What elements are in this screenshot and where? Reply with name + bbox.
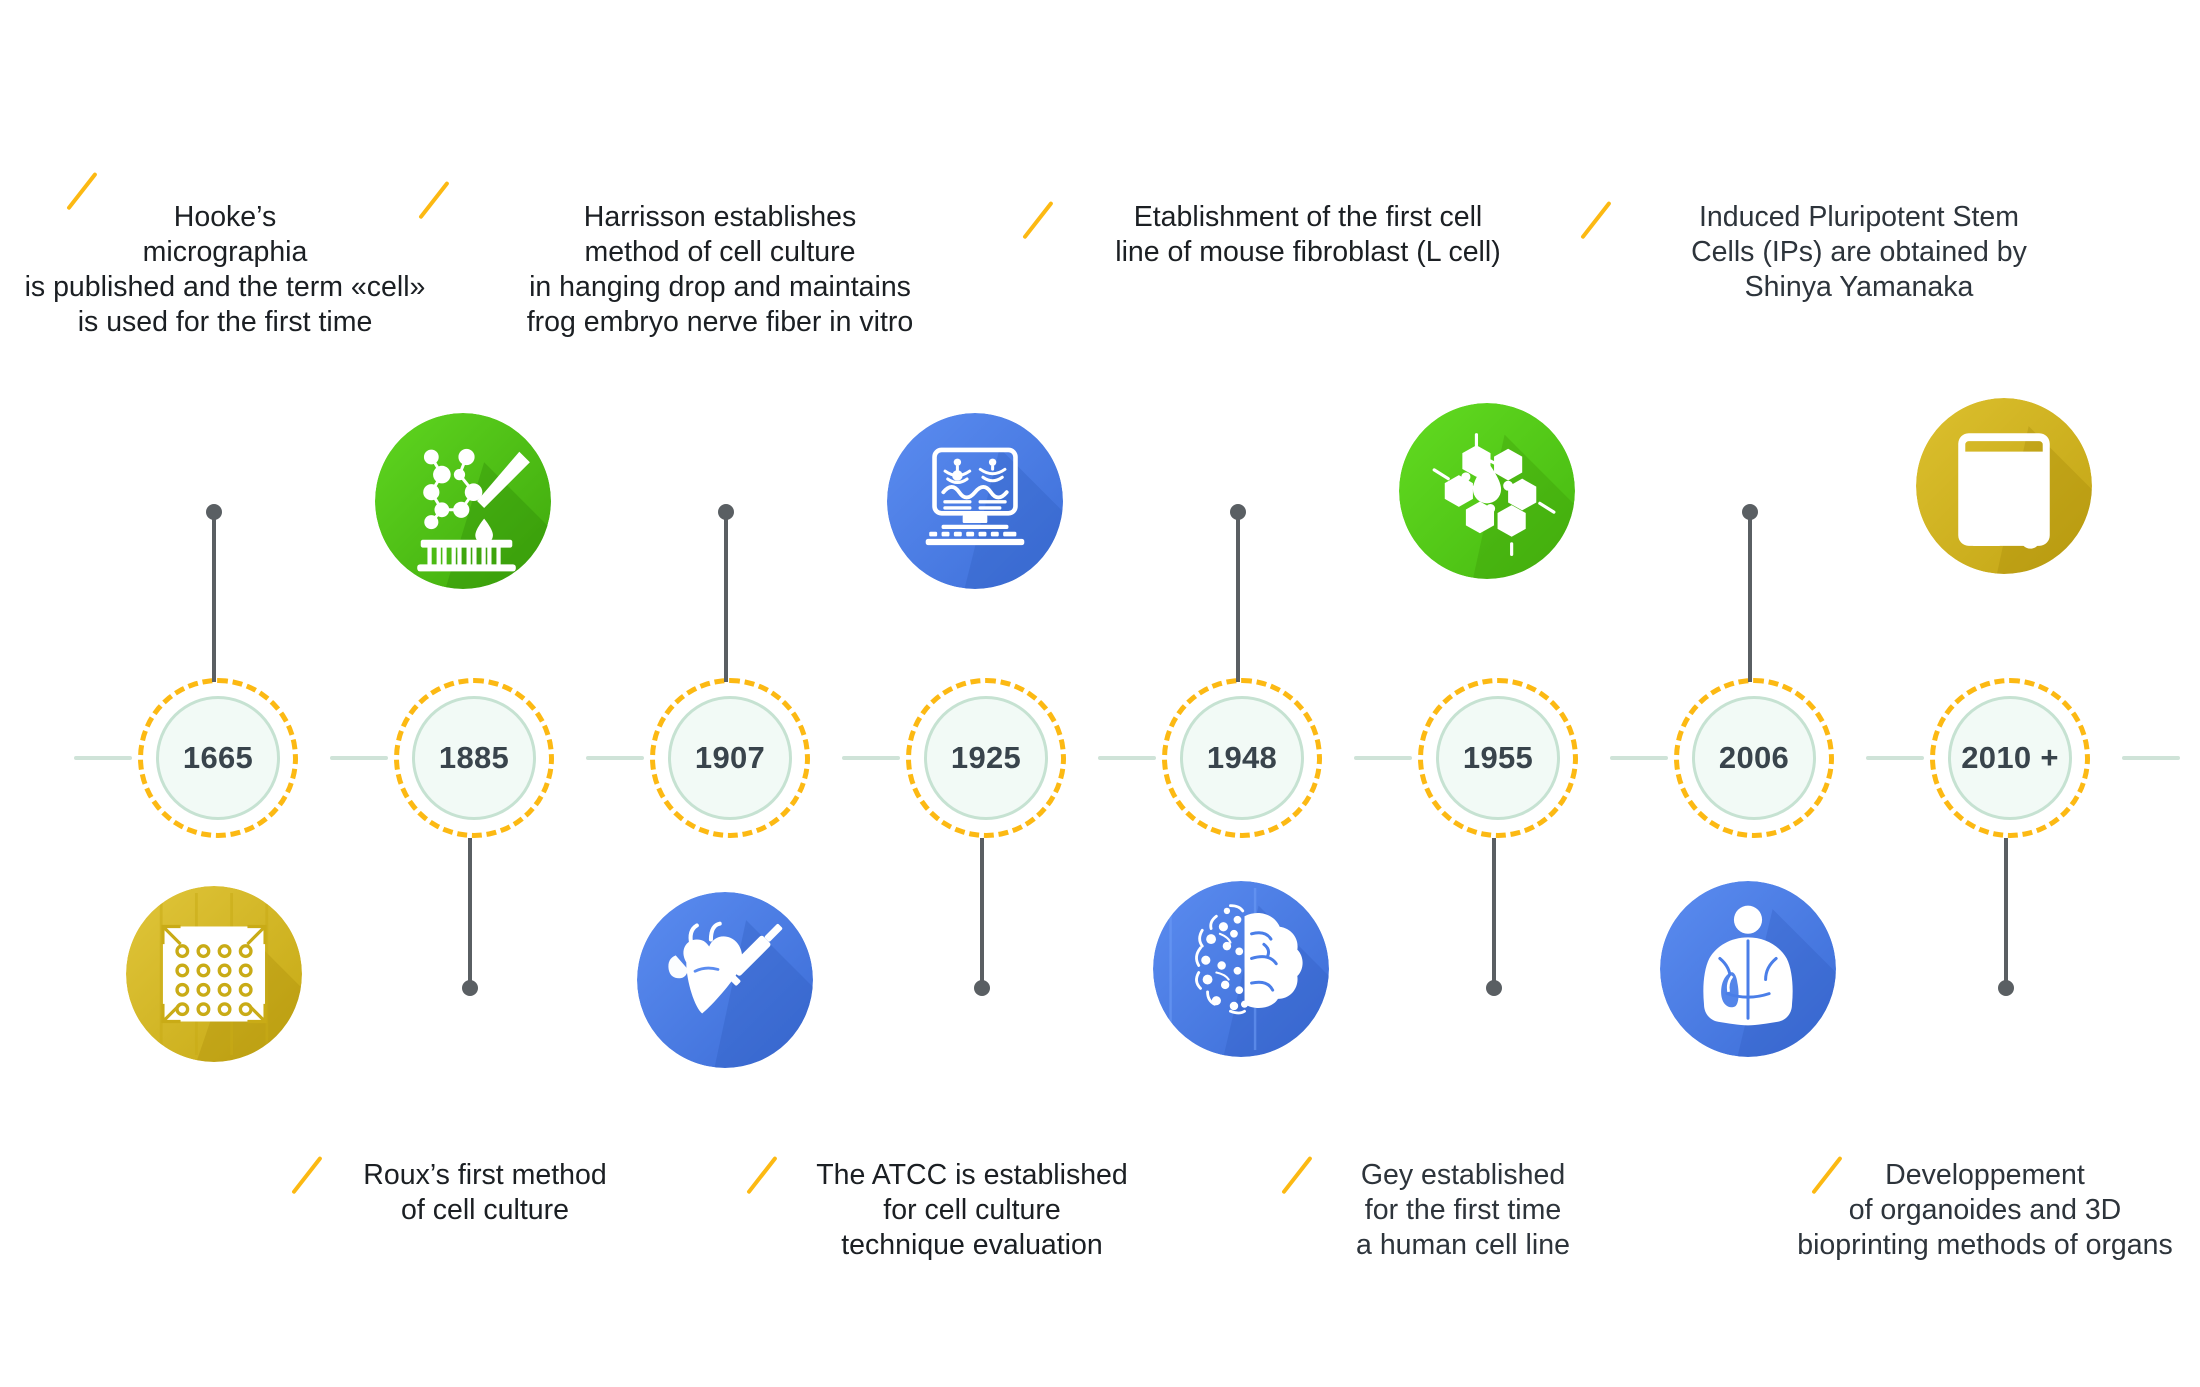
year-label: 1925 [951, 740, 1021, 776]
year-node-inner: 1885 [412, 696, 536, 820]
stem-1665 [212, 512, 216, 682]
milestone-icon-1948[interactable] [1153, 881, 1329, 1057]
year-node-2010-plus[interactable]: 2010 + [1930, 678, 2090, 838]
timeline-connector-end [2122, 756, 2180, 760]
milestone-icon-2006[interactable] [1660, 881, 1836, 1057]
year-node-inner: 1925 [924, 696, 1048, 820]
stem-dot-2006 [1742, 504, 1758, 520]
caption-slash-icon [746, 1156, 777, 1194]
year-node-1925[interactable]: 1925 [906, 678, 1066, 838]
year-node-inner: 1665 [156, 696, 280, 820]
heart-syringe-icon [637, 892, 813, 1068]
stem-dot-1955 [1486, 980, 1502, 996]
stem-1955 [1492, 838, 1496, 988]
timeline-connector [842, 756, 900, 760]
year-node-1665[interactable]: 1665 [138, 678, 298, 838]
caption-slash-icon [291, 1156, 322, 1194]
timeline-connector [1866, 756, 1924, 760]
stem-1948 [1236, 512, 1240, 682]
milestone-icon-1665[interactable] [126, 886, 302, 1062]
monitor-analysis-icon [887, 413, 1063, 589]
year-node-1955[interactable]: 1955 [1418, 678, 1578, 838]
stem-2010-plus [2004, 838, 2008, 988]
caption-1925: The ATCC is established for cell culture… [782, 1158, 1162, 1263]
milestone-icon-1907[interactable] [637, 892, 813, 1068]
milestone-icon-1925[interactable] [887, 413, 1063, 589]
caption-1665: Hooke’s micrographia is published and th… [0, 200, 470, 340]
caption-slash-icon [1281, 1156, 1312, 1194]
year-label: 2010 + [1961, 740, 2058, 776]
milestone-icon-2010-plus[interactable] [1916, 398, 2092, 574]
caption-1885: Roux’s first method of cell culture [330, 1158, 640, 1228]
caption-slash-icon [1022, 201, 1053, 239]
caption-2010-plus: Developpement of organoides and 3D biopr… [1760, 1158, 2200, 1263]
timeline-connector [1610, 756, 1668, 760]
stem-dot-1907 [718, 504, 734, 520]
stem-dot-2010-plus [1998, 980, 2014, 996]
caption-1955: Gey established for the first time a hum… [1318, 1158, 1608, 1263]
stem-2006 [1748, 512, 1752, 682]
brain-neural-icon [1153, 881, 1329, 1057]
stem-1885 [468, 838, 472, 988]
year-label: 1955 [1463, 740, 1533, 776]
year-node-inner: 2006 [1692, 696, 1816, 820]
bioprinter-heart-icon [1916, 398, 2092, 574]
milestone-icon-1885[interactable] [375, 413, 551, 589]
honeycomb-molecule-icon [1399, 403, 1575, 579]
year-node-1948[interactable]: 1948 [1162, 678, 1322, 838]
caption-1907: Harrisson establishes method of cell cul… [470, 200, 970, 340]
caption-2006: Induced Pluripotent Stem Cells (IPs) are… [1614, 200, 2104, 305]
year-label: 1907 [695, 740, 765, 776]
stem-dot-1948 [1230, 504, 1246, 520]
stem-dot-1885 [462, 980, 478, 996]
timeline-connector [586, 756, 644, 760]
milestone-icon-1955[interactable] [1399, 403, 1575, 579]
timeline-connector-start [74, 756, 132, 760]
torso-organ-icon [1660, 881, 1836, 1057]
molecule-pipette-testtube-icon [375, 413, 551, 589]
timeline-connector [1354, 756, 1412, 760]
timeline-connector [1098, 756, 1156, 760]
stem-dot-1665 [206, 504, 222, 520]
year-label: 1885 [439, 740, 509, 776]
caption-1948: Etablishment of the first cell line of m… [1058, 200, 1558, 270]
microplate-well-icon [126, 886, 302, 1062]
stem-dot-1925 [974, 980, 990, 996]
year-label: 2006 [1719, 740, 1789, 776]
year-node-inner: 1907 [668, 696, 792, 820]
year-node-inner: 1955 [1436, 696, 1560, 820]
year-node-inner: 1948 [1180, 696, 1304, 820]
timeline-axis [0, 756, 2200, 760]
year-node-1885[interactable]: 1885 [394, 678, 554, 838]
stem-1907 [724, 512, 728, 682]
stem-1925 [980, 838, 984, 988]
year-label: 1665 [183, 740, 253, 776]
year-node-1907[interactable]: 1907 [650, 678, 810, 838]
year-label: 1948 [1207, 740, 1277, 776]
year-node-2006[interactable]: 2006 [1674, 678, 1834, 838]
timeline-connector [330, 756, 388, 760]
caption-slash-icon [1580, 201, 1611, 239]
year-node-inner: 2010 + [1948, 696, 2072, 820]
